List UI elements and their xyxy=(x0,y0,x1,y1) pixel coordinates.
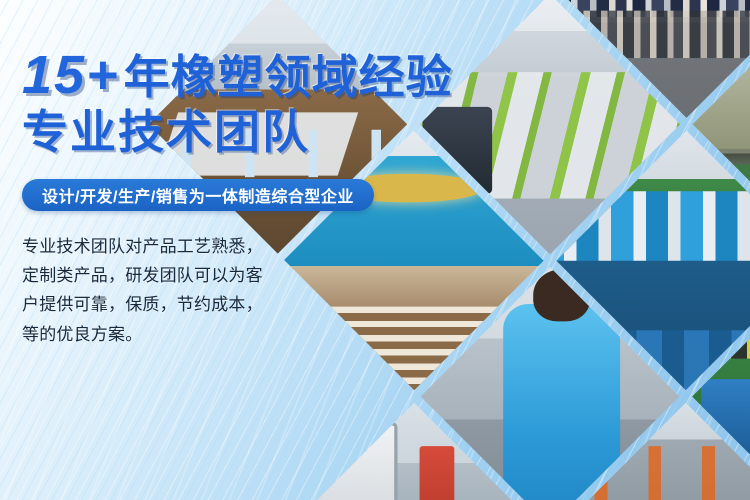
page-title: 15+年橡塑领域经验 专业技术团队 xyxy=(22,48,442,156)
headline-line-2: 专业技术团队 xyxy=(22,109,442,156)
status-badge: 设计/开发/生产/销售为一体制造综合型企业 xyxy=(22,179,374,211)
promo-banner: 15+年橡塑领域经验 专业技术团队 设计/开发/生产/销售为一体制造综合型企业 … xyxy=(0,0,750,500)
years-number: 15+ xyxy=(22,45,124,105)
description-paragraph: 专业技术团队对产品工艺熟悉，定制类产品，研发团队可以为客户提供可靠，保质，节约成… xyxy=(22,232,274,349)
headline-line-1-text: 年橡塑领域经验 xyxy=(124,51,453,103)
headline-line-1: 15+年橡塑领域经验 xyxy=(22,48,442,103)
text-panel: 15+年橡塑领域经验 专业技术团队 设计/开发/生产/销售为一体制造综合型企业 … xyxy=(0,0,430,500)
